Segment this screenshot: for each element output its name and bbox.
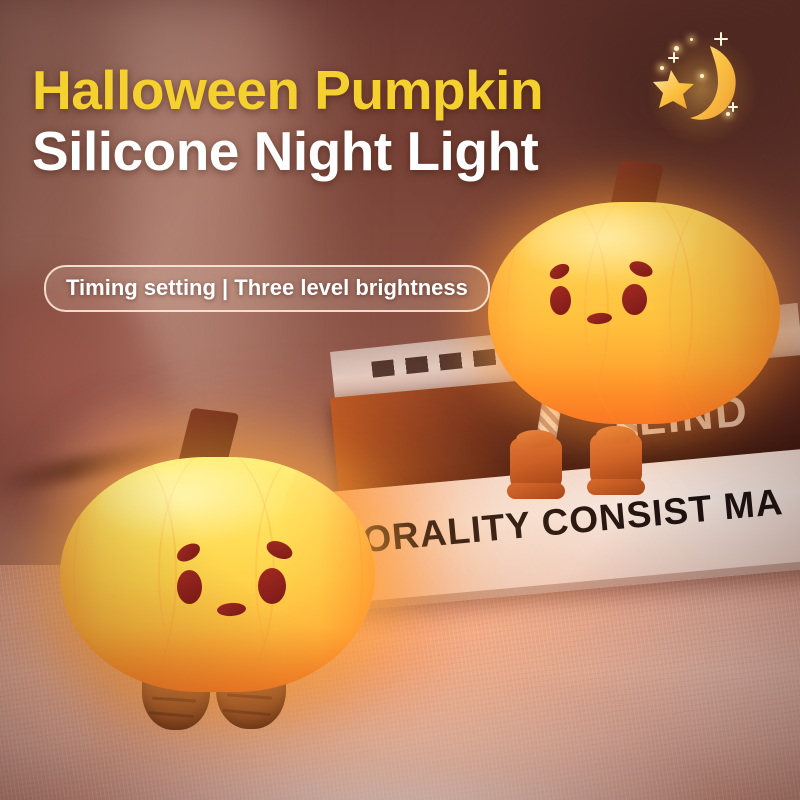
sparkle-dot — [726, 112, 730, 116]
headline-line-2: Silicone Night Light — [32, 123, 543, 179]
product-advertisement-image: LIND ORALITY CONSIST MA — [0, 0, 800, 800]
feature-badge: Timing setting | Three level brightness — [44, 265, 490, 312]
crescent-moon-icon — [638, 28, 768, 153]
sparkle-star — [668, 52, 679, 63]
sparkle-dot — [700, 74, 704, 78]
headline-block: Halloween Pumpkin Silicone Night Light — [32, 62, 543, 179]
sparkle-star — [714, 32, 728, 46]
headline-line-1: Halloween Pumpkin — [32, 62, 543, 118]
sparkle-dot — [660, 66, 664, 70]
sparkle-dot — [674, 46, 679, 51]
sparkle-dot — [690, 38, 693, 41]
sparkle-star — [728, 102, 738, 112]
moon-glow — [646, 34, 758, 146]
